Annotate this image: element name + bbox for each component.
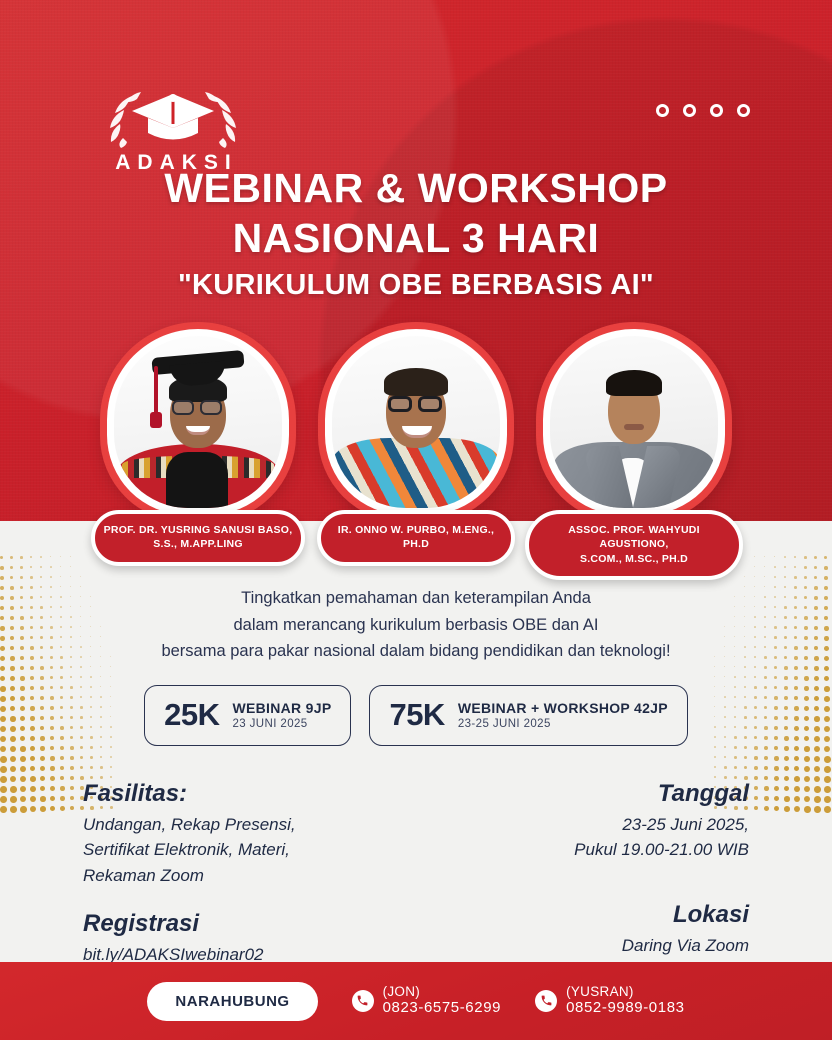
contact-name: (JON) bbox=[383, 984, 502, 1000]
speaker-name-badge: ASSOC. PROF. WAHYUDI AGUSTIONO,S.COM., M… bbox=[525, 510, 743, 580]
price-option-webinar-workshop[interactable]: 75K WEBINAR + WORKSHOP 42JP 23-25 JUNI 2… bbox=[369, 685, 687, 746]
info-column-right: Tanggal 23-25 Juni 2025,Pukul 19.00-21.0… bbox=[449, 780, 749, 958]
speakers-row: PROF. DR. YUSRING SANUSI BASO,S.S., M.AP… bbox=[0, 322, 832, 562]
date-heading: Tanggal bbox=[449, 780, 749, 809]
speaker-card: PROF. DR. YUSRING SANUSI BASO,S.S., M.AP… bbox=[100, 322, 296, 522]
speaker-photo-onno bbox=[332, 336, 500, 508]
price-title: WEBINAR 9JP bbox=[232, 700, 331, 716]
description-line-1: Tingkatkan pemahaman dan keterampilan An… bbox=[0, 585, 832, 612]
speaker-photo-frame bbox=[536, 322, 732, 522]
circle-outline-icon bbox=[710, 104, 723, 117]
speaker-name-badge: IR. ONNO W. PURBO, M.ENG., PH.D bbox=[317, 510, 515, 566]
speaker-photo-frame bbox=[100, 322, 296, 522]
facilities-body: Undangan, Rekap Presensi,Sertifikat Elek… bbox=[83, 812, 423, 889]
price-option-webinar[interactable]: 25K WEBINAR 9JP 23 JUNI 2025 bbox=[144, 685, 351, 746]
pricing-row: 25K WEBINAR 9JP 23 JUNI 2025 75K WEBINAR… bbox=[0, 685, 832, 746]
contact-phone: 0852-9989-0183 bbox=[566, 999, 685, 1018]
description-line-2: dalam merancang kurikulum berbasis OBE d… bbox=[0, 612, 832, 639]
narahubung-label: NARAHUBUNG bbox=[147, 982, 317, 1021]
info-column-left: Fasilitas: Undangan, Rekap Presensi,Sert… bbox=[83, 780, 423, 968]
contact-jon[interactable]: (JON) 0823-6575-6299 bbox=[352, 984, 502, 1018]
facilities-heading: Fasilitas: bbox=[83, 780, 423, 809]
date-body: 23-25 Juni 2025,Pukul 19.00-21.00 WIB bbox=[449, 812, 749, 863]
speaker-photo-frame bbox=[318, 322, 514, 522]
circle-outline-icon bbox=[737, 104, 750, 117]
contact-phone: 0823-6575-6299 bbox=[383, 999, 502, 1018]
location-body: Daring Via Zoom bbox=[449, 933, 749, 959]
decorative-circles bbox=[656, 104, 750, 117]
title-line-2: NASIONAL 3 HARI bbox=[0, 213, 832, 263]
price-dates: 23 JUNI 2025 bbox=[232, 718, 331, 730]
location-heading: Lokasi bbox=[449, 901, 749, 930]
poster-title: WEBINAR & WORKSHOP NASIONAL 3 HARI "KURI… bbox=[0, 163, 832, 302]
contact-yusran[interactable]: (YUSRAN) 0852-9989-0183 bbox=[535, 984, 685, 1018]
contact-footer: NARAHUBUNG (JON) 0823-6575-6299 (YUSRAN)… bbox=[0, 962, 832, 1040]
graduation-cap-laurel-icon bbox=[78, 80, 268, 148]
price-amount: 75K bbox=[389, 697, 444, 733]
speaker-photo-wahyudi bbox=[550, 336, 718, 508]
phone-icon bbox=[352, 990, 374, 1012]
title-line-3: "KURIKULUM OBE BERBASIS AI" bbox=[0, 269, 832, 302]
webinar-poster: ADAKSI WEBINAR & WORKSHOP NASIONAL 3 HAR… bbox=[0, 0, 832, 1040]
price-dates: 23-25 JUNI 2025 bbox=[458, 718, 668, 730]
registration-heading: Registrasi bbox=[83, 910, 423, 939]
description-line-3: bersama para pakar nasional dalam bidang… bbox=[0, 638, 832, 665]
phone-icon bbox=[535, 990, 557, 1012]
circle-outline-icon bbox=[656, 104, 669, 117]
price-title: WEBINAR + WORKSHOP 42JP bbox=[458, 700, 668, 716]
circle-outline-icon bbox=[683, 104, 696, 117]
price-amount: 25K bbox=[164, 697, 219, 733]
speaker-card: ASSOC. PROF. WAHYUDI AGUSTIONO,S.COM., M… bbox=[536, 322, 732, 522]
speaker-photo-yusring bbox=[114, 336, 282, 508]
contact-name: (YUSRAN) bbox=[566, 984, 685, 1000]
description-block: Tingkatkan pemahaman dan keterampilan An… bbox=[0, 585, 832, 665]
title-line-1: WEBINAR & WORKSHOP bbox=[0, 163, 832, 213]
speaker-card: IR. ONNO W. PURBO, M.ENG., PH.D bbox=[318, 322, 514, 522]
speaker-name-badge: PROF. DR. YUSRING SANUSI BASO,S.S., M.AP… bbox=[91, 510, 305, 566]
